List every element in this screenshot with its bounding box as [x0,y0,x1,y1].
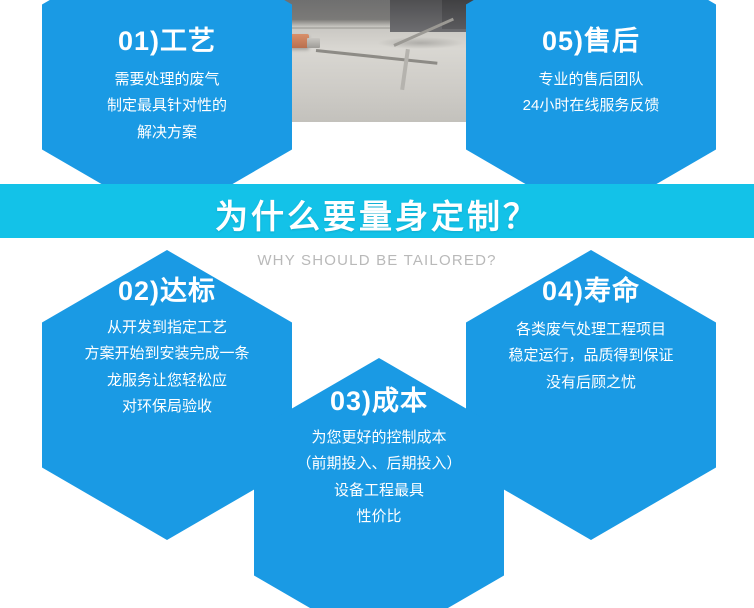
workshop-photo [268,0,486,122]
hex-body-line: 方案开始到安装完成一条 [42,341,292,367]
hex-body-line: 需要处理的废气 [42,67,292,93]
hex-title-02: 02)达标 [42,278,292,305]
hex-body-05: 专业的售后团队 24小时在线服务反馈 [466,67,716,120]
hex-body-line: 24小时在线服务反馈 [466,93,716,119]
hex-body-02: 从开发到指定工艺 方案开始到安装完成一条 龙服务让您轻松应 对环保局验收 [42,315,292,420]
hex-body-line: 对环保局验收 [42,394,292,420]
photo-gray-box [307,38,320,48]
hex-title-01: 01)工艺 [42,28,292,55]
banner-title: 为什么要量身定制？ [0,190,754,238]
hex-body-line: 制定最具针对性的 [42,93,292,119]
hex-body-line: 性价比 [254,504,504,530]
photo-shadow [377,37,464,49]
photo-rod [400,49,410,91]
hex-body-line: 解决方案 [42,120,292,146]
hex-body-line: 从开发到指定工艺 [42,315,292,341]
hex-body-line: 设备工程最具 [254,478,504,504]
hex-body-03: 为您更好的控制成本 （前期投入、后期投入） 设备工程最具 性价比 [254,425,504,530]
hex-body-line: 专业的售后团队 [466,67,716,93]
hex-body-line: 稳定运行，品质得到保证 [466,343,716,369]
banner-subtitle: WHY SHOULD BE TAILORED? [0,252,754,269]
hex-body-line: 龙服务让您轻松应 [42,368,292,394]
hex-title-04: 04)寿命 [466,278,716,305]
center-banner: 为什么要量身定制？ [0,184,754,238]
hex-title-05: 05)售后 [466,28,716,55]
hex-body-line: （前期投入、后期投入） [254,451,504,477]
infographic-canvas: 01)工艺 需要处理的废气 制定最具针对性的 解决方案 05)售后 专业的售后团… [0,0,754,608]
photo-pipe [316,49,438,65]
hex-body-line: 各类废气处理工程项目 [466,317,716,343]
hex-body-line: 为您更好的控制成本 [254,425,504,451]
hex-body-line: 没有后顾之忧 [466,370,716,396]
hex-body-04: 各类废气处理工程项目 稳定运行，品质得到保证 没有后顾之忧 [466,317,716,396]
hex-body-01: 需要处理的废气 制定最具针对性的 解决方案 [42,67,292,146]
